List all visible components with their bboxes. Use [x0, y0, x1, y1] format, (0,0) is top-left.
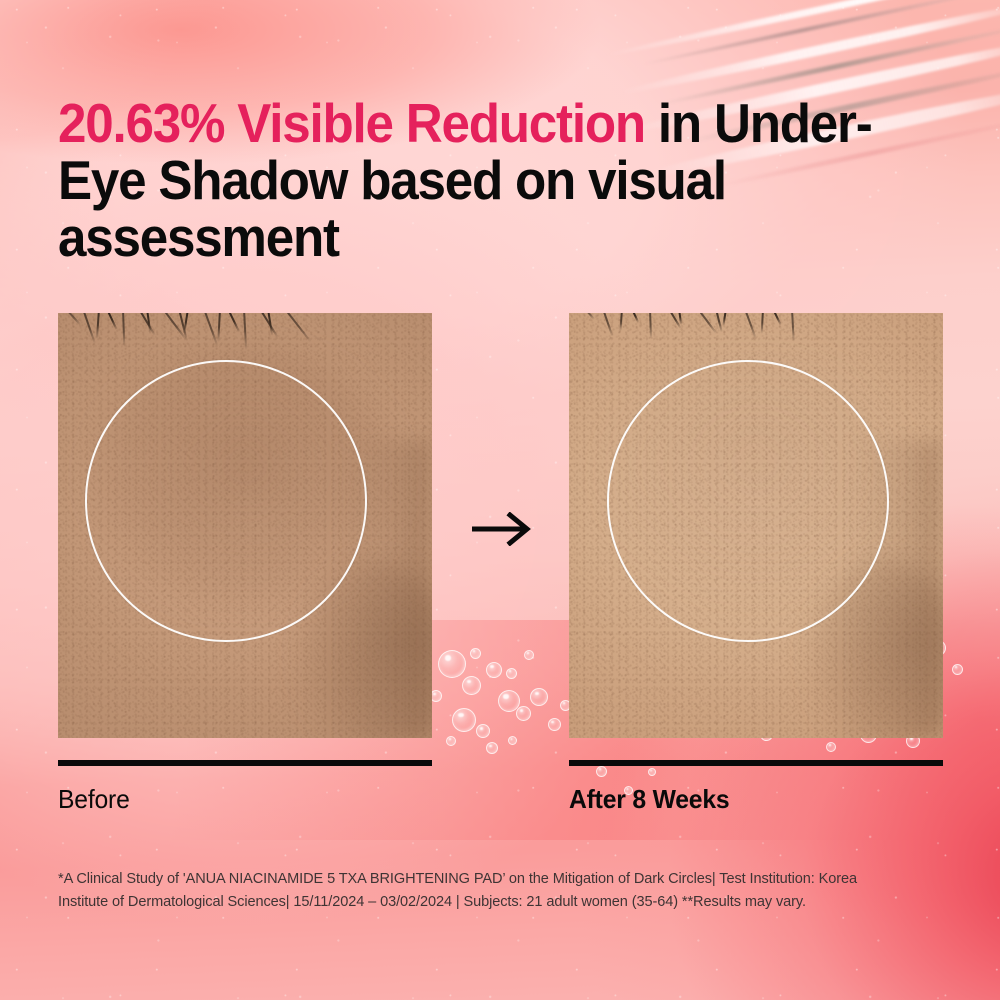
- headline-accent: 20.63% Visible Reduction: [58, 92, 645, 154]
- headline: 20.63% Visible Reduction in Under-Eye Sh…: [58, 95, 876, 267]
- promo-graphic: 20.63% Visible Reduction in Under-Eye Sh…: [0, 0, 1000, 1000]
- before-eyelashes: [58, 313, 432, 353]
- after-caption: After 8 Weeks: [569, 784, 729, 815]
- after-assessment-circle: [607, 360, 889, 642]
- before-divider-rule: [58, 760, 432, 766]
- after-photo: [569, 313, 943, 738]
- after-divider-rule: [569, 760, 943, 766]
- before-assessment-circle: [85, 360, 367, 642]
- before-caption: Before: [58, 784, 130, 815]
- after-eyelashes: [569, 313, 943, 353]
- right-arrow-icon: [470, 512, 534, 546]
- before-photo: [58, 313, 432, 738]
- study-footnote: *A Clinical Study of 'ANUA NIACINAMIDE 5…: [58, 868, 881, 913]
